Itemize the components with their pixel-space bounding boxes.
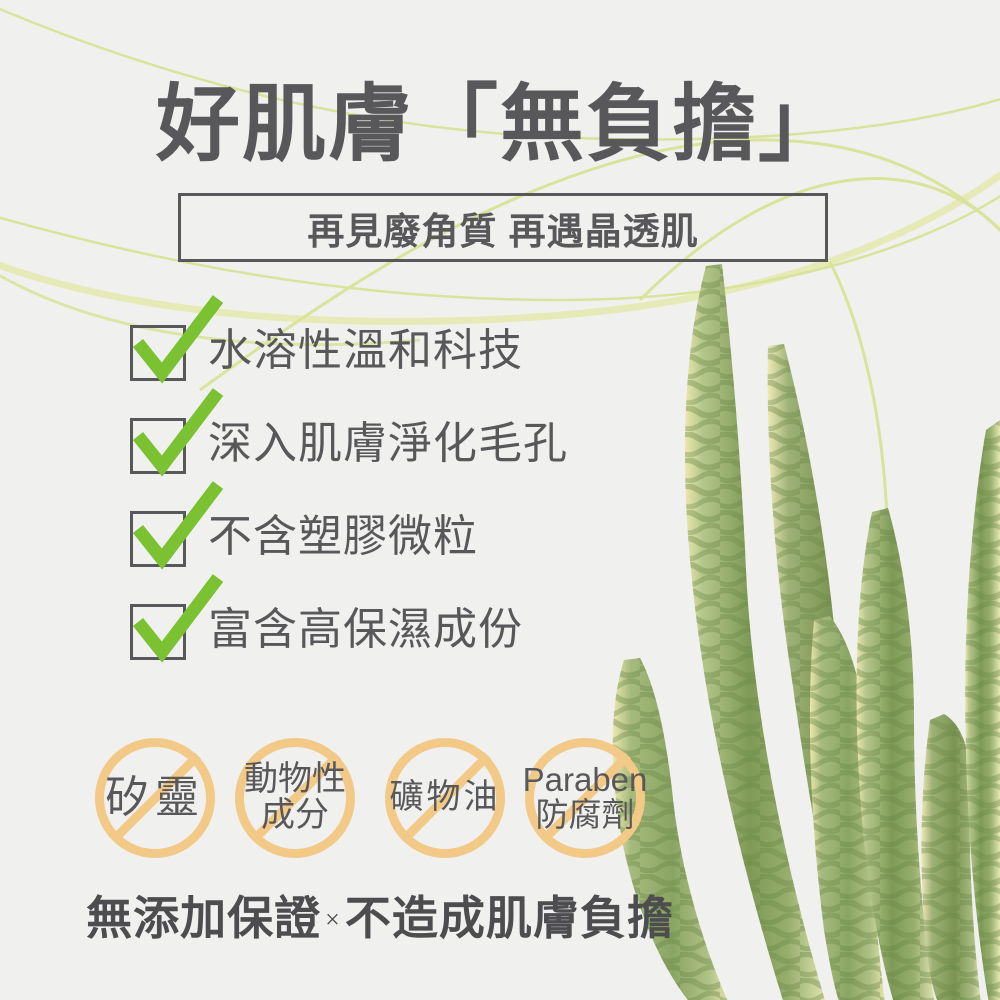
checkmark-icon: [126, 483, 226, 575]
feature-label: 富含高保濕成份: [208, 601, 523, 659]
promo-poster: 好肌膚「無負擔」 再見廢角質 再遇晶透肌 水溶性溫和科技 深入肌膚淨化毛孔: [0, 0, 1000, 1000]
no-paraben-badge: Paraben 防腐劑: [525, 738, 645, 858]
checkbox-checked: [130, 418, 186, 474]
page-title: 好肌膚「無負擔」: [0, 78, 1000, 174]
badge-line-2: 防腐劑: [536, 798, 635, 833]
snake-plant-illustration: [600, 250, 1000, 1000]
badge-line-1: 矽靈: [105, 775, 205, 821]
checkbox-checked: [130, 604, 186, 660]
bottom-slogan: 無添加保證×不造成肌膚負擔: [0, 890, 760, 949]
slogan-left: 無添加保證: [86, 893, 321, 944]
subtitle-text: 再見廢角質 再遇晶透肌: [307, 201, 698, 255]
slogan-separator: ×: [321, 905, 345, 934]
no-mineral-oil-badge: 礦物油: [385, 738, 505, 858]
no-animal-ingredient-badge: 動物性 成分: [235, 738, 355, 858]
checkbox-checked: [130, 511, 186, 567]
badge-line-2: 成分: [261, 798, 329, 834]
no-silicone-badge: 矽靈: [95, 738, 215, 858]
badge-text: Paraben 防腐劑: [503, 738, 667, 858]
checkbox-checked: [130, 325, 186, 381]
curve-thin-descend: [830, 262, 888, 680]
checkmark-icon: [126, 576, 226, 668]
checkmark-icon: [126, 390, 226, 482]
subtitle-box: 再見廢角質 再遇晶透肌: [178, 193, 828, 262]
feature-checklist: 水溶性溫和科技 深入肌膚淨化毛孔 不含塑膠微粒: [130, 322, 568, 694]
checkmark-icon: [126, 297, 226, 389]
badge-text: 動物性 成分: [213, 738, 377, 858]
badge-line-1: 礦物油: [390, 780, 501, 816]
feature-label: 不含塑膠微粒: [208, 508, 478, 566]
free-from-badges: 矽靈 動物性 成分 礦物油 Paraben 防腐劑: [95, 738, 655, 858]
feature-label: 水溶性溫和科技: [208, 322, 523, 380]
slogan-right: 不造成肌膚負擔: [345, 893, 674, 944]
badge-line-1: Paraben: [523, 763, 648, 798]
feature-item: 富含高保濕成份: [130, 601, 568, 694]
feature-label: 深入肌膚淨化毛孔: [208, 415, 568, 473]
badge-line-1: 動物性: [244, 762, 346, 798]
